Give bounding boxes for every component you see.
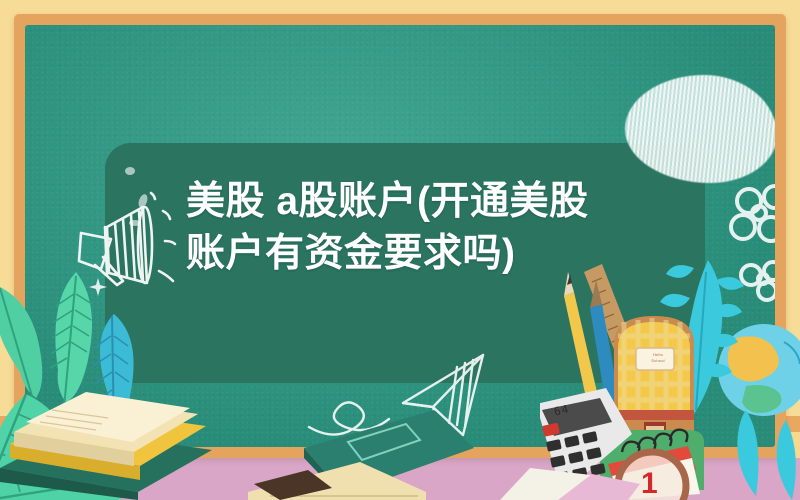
paper-sheets [500, 460, 640, 500]
backpack-tag-line-2: School [641, 358, 675, 363]
poster-canvas: 美股 a股账户(开通美股 账户有资金要求吗) [0, 0, 800, 500]
backpack-tag-line-1: Hello [641, 352, 675, 357]
calendar-day-number: 1 [641, 467, 658, 500]
title-line-1: 美股 a股账户(开通美股 [186, 176, 616, 228]
book-teal-right [248, 396, 478, 500]
